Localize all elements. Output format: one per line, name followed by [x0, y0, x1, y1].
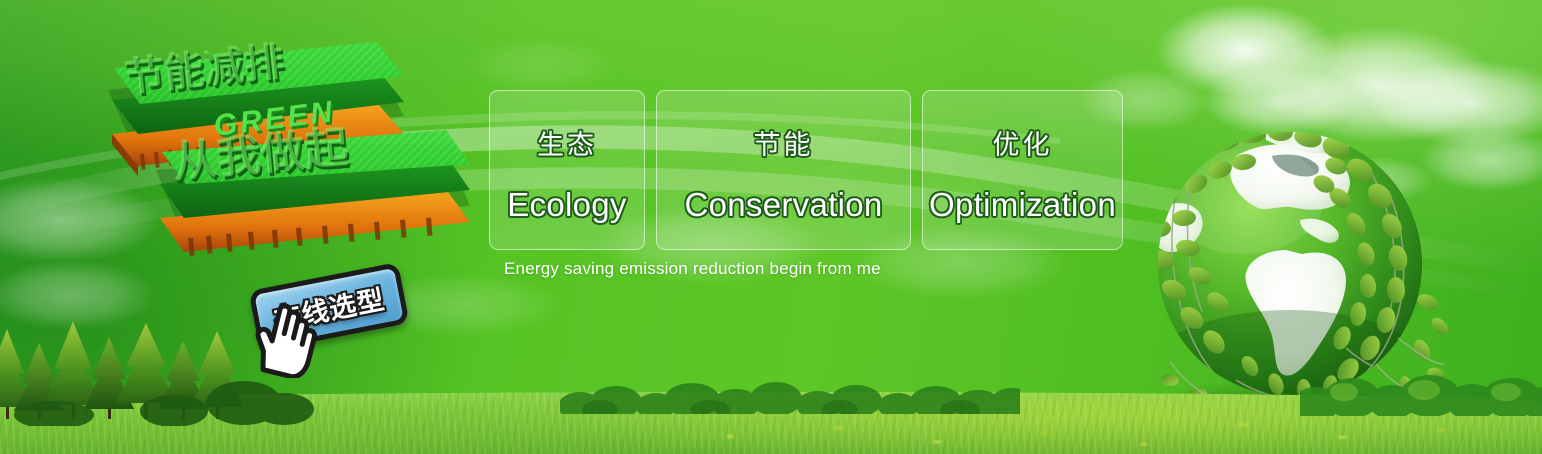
card-title-en: Optimization — [929, 186, 1116, 224]
grass-field — [0, 392, 1542, 454]
online-selection-button[interactable]: 在线选型 — [253, 272, 413, 350]
leaf-debris — [640, 410, 1540, 454]
card-title-cn: 优化 — [993, 123, 1053, 162]
card-title-en: Ecology — [507, 186, 627, 224]
page-title: 节能减排 节能减排 GREEN GREEN — [104, 42, 484, 292]
card-title-cn: 节能 — [754, 123, 814, 162]
card-ecology[interactable]: 生态 Ecology — [489, 90, 645, 250]
tagline: Energy saving emission reduction begin f… — [504, 259, 881, 279]
leafy-globe — [1140, 112, 1452, 442]
feature-cards: 生态 Ecology 节能 Conservation 优化 Optimizati… — [489, 90, 1123, 250]
card-optimization[interactable]: 优化 Optimization — [922, 90, 1123, 250]
hand-pointer-cursor-icon — [241, 300, 329, 378]
card-conservation[interactable]: 节能 Conservation — [656, 90, 911, 250]
card-title-en: Conservation — [684, 186, 882, 224]
card-title-cn: 生态 — [537, 123, 597, 162]
green-banner: 节能减排 节能减排 GREEN GREEN — [0, 0, 1542, 454]
